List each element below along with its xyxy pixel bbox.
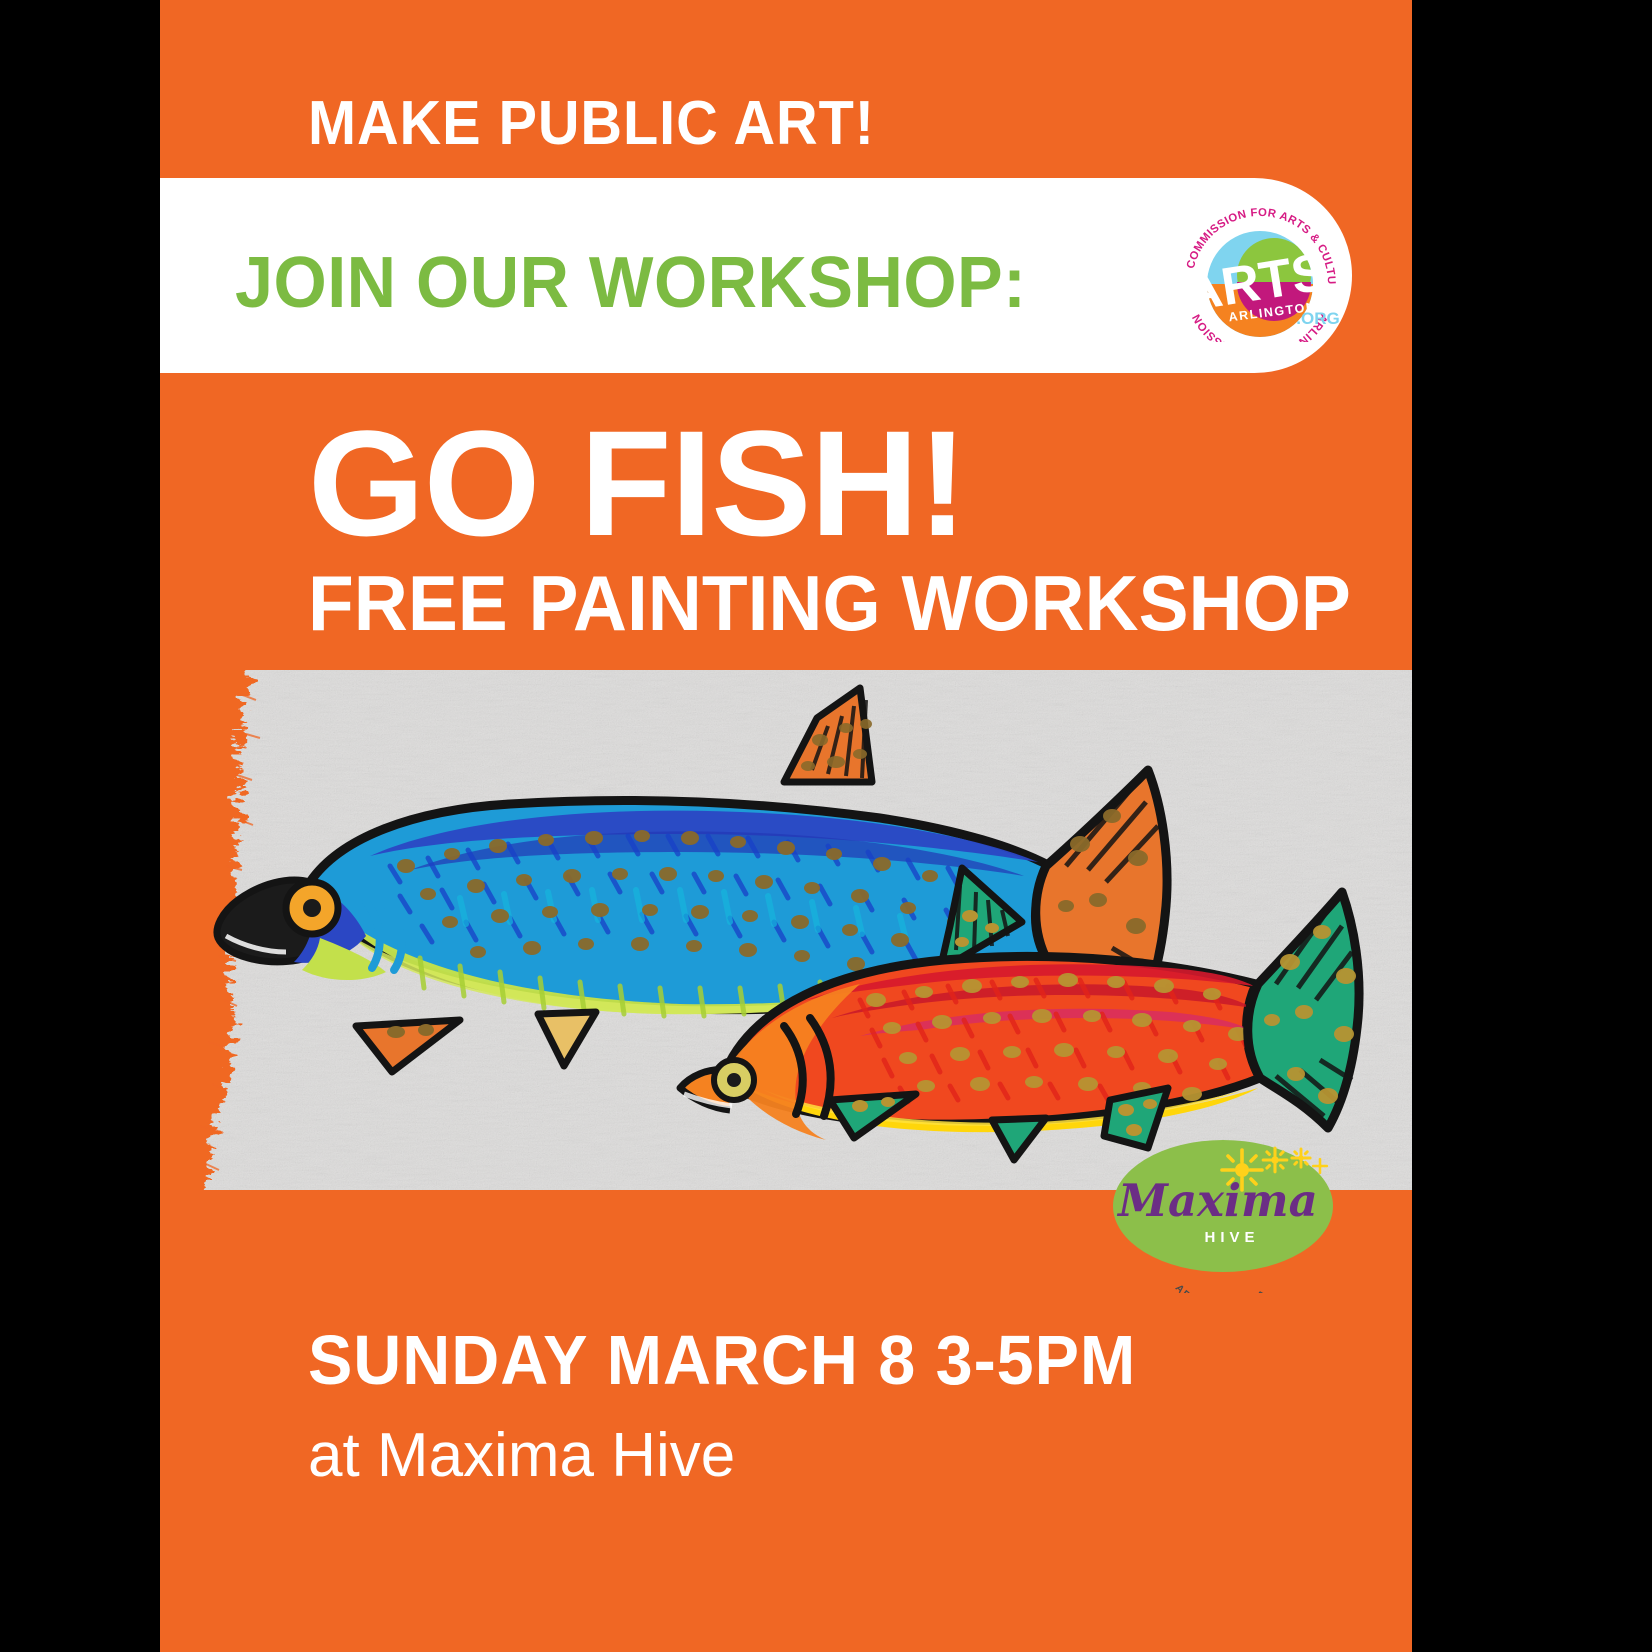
join-workshop-line: JOIN OUR WORKSHOP: [235,242,1026,324]
event-datetime: SUNDAY MARCH 8 3-5PM [308,1320,1136,1400]
arts-arlington-logo: COMMISSION FOR ARTS & CULTURE ARLINGTON … [1170,192,1360,342]
event-venue: at Maxima Hive [308,1420,735,1491]
badge-wordmark: Maxima [1116,1174,1318,1227]
logo-tld: .ORG [1296,309,1339,328]
poster-canvas: MAKE PUBLIC ART! JOIN OUR WORKSHOP: COMM… [160,0,1412,1652]
badge-location: ARLINGTON, MA [1173,1282,1270,1293]
badge-subword: HIVE [1204,1229,1259,1246]
maxima-hive-badge: Maxima HIVE ARLINGTON, MA [1110,1118,1335,1293]
svg-text:ARLINGTON, MA: ARLINGTON, MA [1173,1282,1270,1293]
poster-title: GO FISH! [308,408,967,558]
poster-subtitle: FREE PAINTING WORKSHOP [308,558,1351,649]
fish-artwork-band [160,670,1412,1190]
poster-kicker: MAKE PUBLIC ART! [308,88,875,159]
